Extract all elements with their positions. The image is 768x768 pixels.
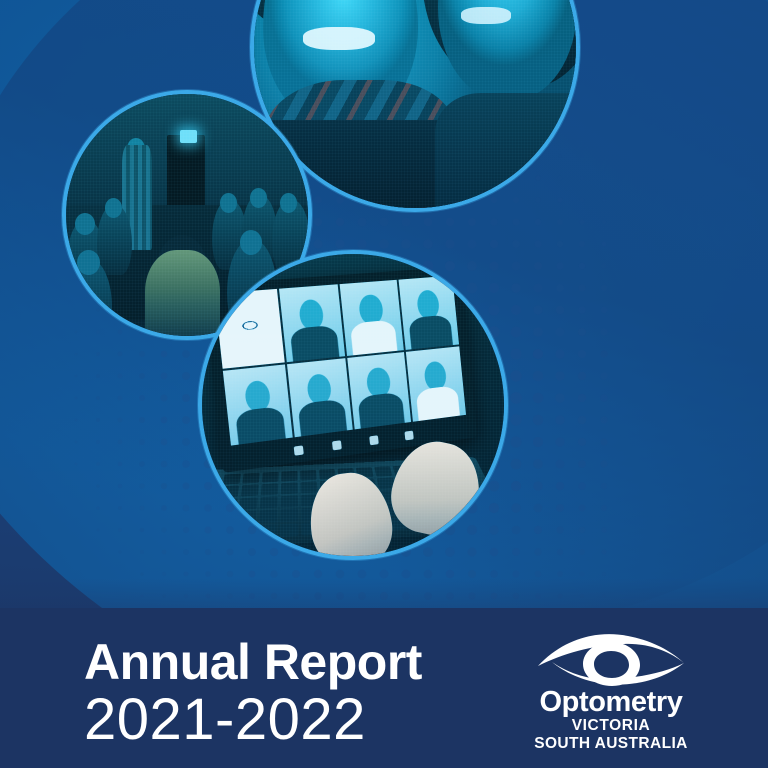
logo-wordmark: Optometry bbox=[516, 687, 706, 717]
cover-footer: Annual Report 2021-2022 Optometry VICTOR… bbox=[0, 598, 768, 768]
report-title: Annual Report bbox=[84, 637, 422, 687]
annual-report-cover: Annual Report 2021-2022 Optometry VICTOR… bbox=[0, 0, 768, 768]
report-title-block: Annual Report 2021-2022 bbox=[84, 637, 422, 750]
report-subtitle: 2021-2022 bbox=[84, 689, 422, 750]
laptop-video-call-photo bbox=[198, 250, 508, 560]
eye-logo-icon bbox=[536, 632, 686, 688]
optometry-logo: Optometry VICTORIA SOUTH AUSTRALIA bbox=[516, 632, 706, 752]
logo-region-line1: VICTORIA bbox=[516, 717, 706, 734]
logo-region-line2: SOUTH AUSTRALIA bbox=[516, 735, 706, 752]
